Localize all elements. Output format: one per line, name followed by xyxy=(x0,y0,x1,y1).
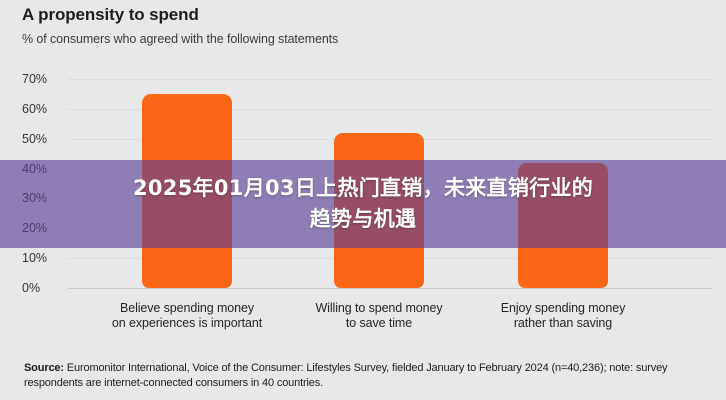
category-label-3: Enjoy spending moneyrather than saving xyxy=(458,301,668,331)
category-label-line: rather than saving xyxy=(458,316,668,331)
category-label-1: Believe spending moneyon experiences is … xyxy=(82,301,292,331)
overlay-line-2: 趋势与机遇 xyxy=(310,204,417,235)
footer: Source: Euromonitor International, Voice… xyxy=(0,352,726,400)
axis-baseline xyxy=(68,288,712,289)
category-label-line: Believe spending money xyxy=(82,301,292,316)
source-text: Euromonitor International, Voice of the … xyxy=(24,362,667,389)
category-label-line: on experiences is important xyxy=(82,316,292,331)
chart-canvas: A propensity to spend % of consumers who… xyxy=(0,0,726,400)
y-axis-tick-label: 0% xyxy=(22,281,66,295)
y-axis-tick-label: 10% xyxy=(22,251,66,265)
category-label-line: Enjoy spending money xyxy=(458,301,668,316)
source-label: Source: xyxy=(24,362,64,374)
source-note: Source: Euromonitor International, Voice… xyxy=(24,361,708,390)
chart-subtitle: % of consumers who agreed with the follo… xyxy=(22,32,338,46)
category-label-line: to save time xyxy=(274,316,484,331)
y-axis-tick-label: 60% xyxy=(22,102,66,116)
category-label-line: Willing to spend money xyxy=(274,301,484,316)
gridline xyxy=(68,79,712,80)
y-axis-tick-label: 50% xyxy=(22,132,66,146)
y-axis-tick-label: 70% xyxy=(22,72,66,86)
category-label-2: Willing to spend moneyto save time xyxy=(274,301,484,331)
overlay-banner-text: 2025年01月03日上热门直销，未来直销行业的 趋势与机遇 xyxy=(0,160,726,248)
page-title: A propensity to spend xyxy=(22,5,199,25)
overlay-line-1: 2025年01月03日上热门直销，未来直销行业的 xyxy=(133,173,593,204)
